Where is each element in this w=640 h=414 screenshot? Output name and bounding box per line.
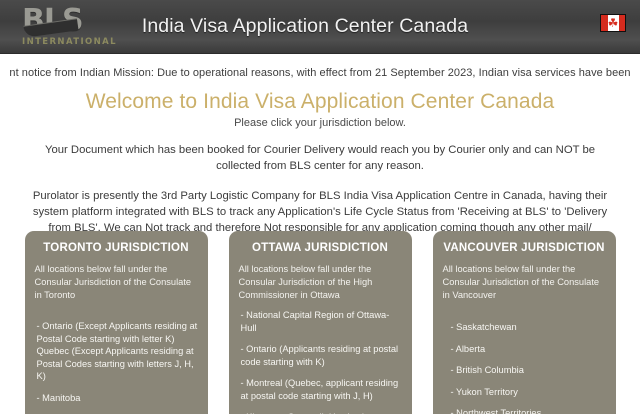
welcome-subtitle: Please click your jurisdiction below. <box>12 117 628 129</box>
jurisdiction-list-toronto: - Ontario (Except Applicants residing at… <box>25 302 208 414</box>
flag-right-band <box>619 15 626 31</box>
site-header: BLS INTERNATIONAL India Visa Application… <box>0 0 640 54</box>
maple-leaf-icon: ☘ <box>608 17 619 29</box>
notice-marquee: nt notice from Indian Mission: Due to op… <box>0 54 640 84</box>
list-item: - Yukon Territory <box>451 386 606 399</box>
list-item: - Ontario (Except Applicants residing at… <box>37 320 198 383</box>
canada-flag-icon: ☘ <box>600 14 626 32</box>
courier-notice-paragraph: Your Document which has been booked for … <box>32 142 608 174</box>
jurisdiction-title-vancouver: VANCOUVER JURISDICTION <box>433 231 616 254</box>
page-root: BLS INTERNATIONAL India Visa Application… <box>0 0 640 414</box>
jurisdiction-title-toronto: TORONTO JURISDICTION <box>25 231 208 254</box>
jurisdiction-list-ottawa: - National Capital Region of Ottawa- Hul… <box>229 302 412 414</box>
jurisdiction-description-vancouver: All locations below fall under the Consu… <box>433 254 616 302</box>
list-item: - Alberta <box>451 343 606 356</box>
flag-center-panel: ☘ <box>608 15 619 31</box>
list-item: - National Capital Region of Ottawa- Hul… <box>241 309 402 334</box>
list-item: - Manitoba <box>37 392 198 405</box>
list-item: - Northwest Territories <box>451 407 606 414</box>
notice-text: nt notice from Indian Mission: Due to op… <box>9 67 630 79</box>
welcome-heading: Welcome to India Visa Application Center… <box>12 90 628 114</box>
jurisdiction-description-ottawa: All locations below fall under the Consu… <box>229 254 412 302</box>
jurisdiction-list-vancouver: - Saskatchewan - Alberta - British Colum… <box>433 302 616 414</box>
main-content: Welcome to India Visa Application Center… <box>0 90 640 252</box>
jurisdiction-panels: TORONTO JURISDICTION All locations below… <box>0 231 640 414</box>
list-item: - Saskatchewan <box>451 321 606 334</box>
jurisdiction-card-vancouver[interactable]: VANCOUVER JURISDICTION All locations bel… <box>433 231 616 414</box>
jurisdiction-card-ottawa[interactable]: OTTAWA JURISDICTION All locations below … <box>229 231 412 414</box>
list-item: - Ontario (Applicants residing at postal… <box>241 343 402 368</box>
list-item: - British Columbia <box>451 364 606 377</box>
list-item: - Montreal (Quebec, applicant residing a… <box>241 377 402 402</box>
jurisdiction-title-ottawa: OTTAWA JURISDICTION <box>229 231 412 254</box>
jurisdiction-description-toronto: All locations below fall under the Consu… <box>25 254 208 302</box>
jurisdiction-card-toronto[interactable]: TORONTO JURISDICTION All locations below… <box>25 231 208 414</box>
page-title: India Visa Application Center Canada <box>0 15 640 38</box>
bls-logo-subtitle: INTERNATIONAL <box>22 37 132 48</box>
